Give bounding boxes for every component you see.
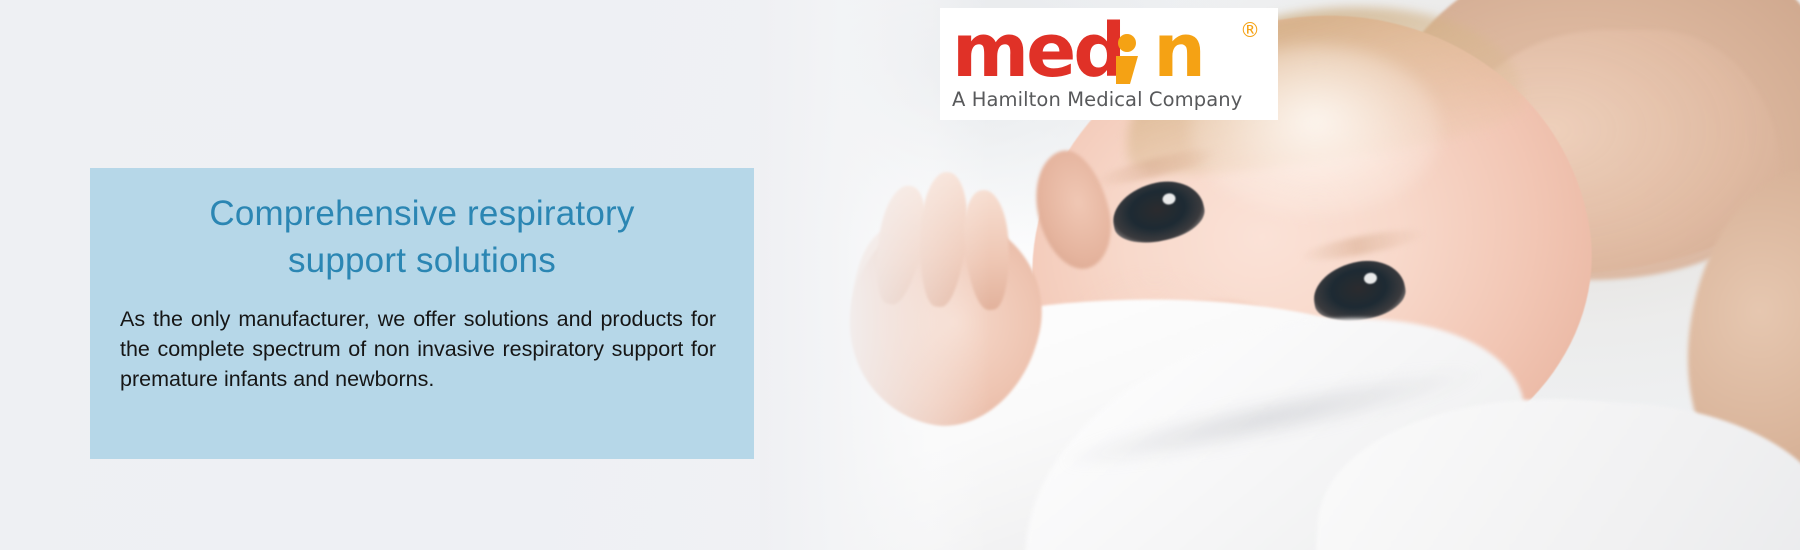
logo-wordmark: med n ® (952, 14, 1266, 86)
eye-glint (1162, 192, 1177, 205)
message-card: Comprehensive respiratory support soluti… (90, 168, 754, 459)
headline: Comprehensive respiratory support soluti… (118, 190, 726, 284)
person-figure-icon (1110, 34, 1144, 84)
baby-photo (760, 0, 1800, 550)
logo-text-med: med (952, 16, 1123, 86)
eye-glint (1363, 271, 1378, 284)
medin-logo[interactable]: med n ® A Hamilton Medical Company (940, 8, 1278, 120)
marketing-banner: Comprehensive respiratory support soluti… (0, 0, 1800, 550)
body-copy: As the only manufacturer, we offer solut… (118, 304, 726, 394)
logo-text-n: n (1153, 16, 1203, 86)
registered-trademark-icon: ® (1240, 18, 1260, 42)
